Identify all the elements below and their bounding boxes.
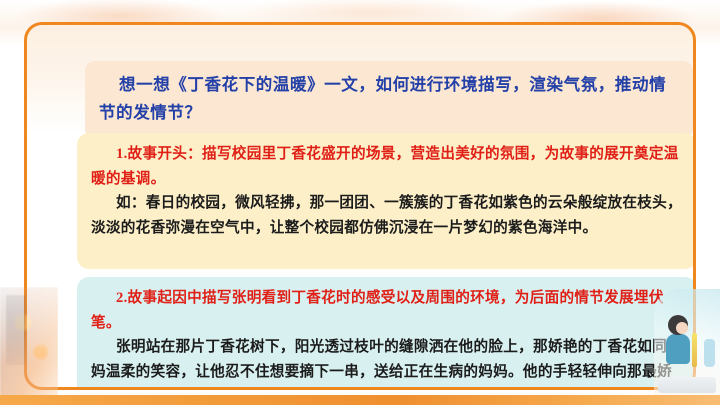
content-frame: 想一想《丁香花下的温暖》一文，如何进行环境描写，渲染气氛，推动情节的发情节？ 1… bbox=[24, 22, 696, 390]
answer-card-story-beginning: 1.故事开头：描写校园里丁香花盛开的场景，营造出美好的氛围，为故事的展开奠定温暖… bbox=[77, 133, 696, 269]
card-body-text: 如：春日的校园，微风轻拂，那一团团、一簇簇的丁香花如紫色的云朵般绽放在枝头，淡淡… bbox=[91, 191, 683, 240]
card-body-text: 张明站在那片丁香花树下，阳光透过枝叶的缝隙洒在他的脸上，那娇艳的丁香花如同妈妈温… bbox=[91, 335, 683, 390]
card-lead-text: 1.故事开头：描写校园里丁香花盛开的场景，营造出美好的氛围，为故事的展开奠定温暖… bbox=[91, 142, 683, 191]
card-lead-text: 2.故事起因中描写张明看到丁香花时的感受以及周围的环境，为后面的情节发展埋伏笔。 bbox=[91, 286, 683, 335]
question-panel: 想一想《丁香花下的温暖》一文，如何进行环境描写，渲染气氛，推动情节的发情节？ bbox=[85, 61, 693, 139]
slide-root: 想一想《丁香花下的温暖》一文，如何进行环境描写，渲染气氛，推动情节的发情节？ 1… bbox=[0, 0, 720, 405]
answer-card-story-cause: 2.故事起因中描写张明看到丁香花时的感受以及周围的环境，为后面的情节发展埋伏笔。… bbox=[77, 277, 696, 390]
bottom-accent-bar bbox=[0, 395, 720, 405]
water-bottle-shape bbox=[704, 339, 715, 367]
question-text: 想一想《丁香花下的温暖》一文，如何进行环境描写，渲染气氛，推动情节的发情节？ bbox=[99, 71, 679, 127]
